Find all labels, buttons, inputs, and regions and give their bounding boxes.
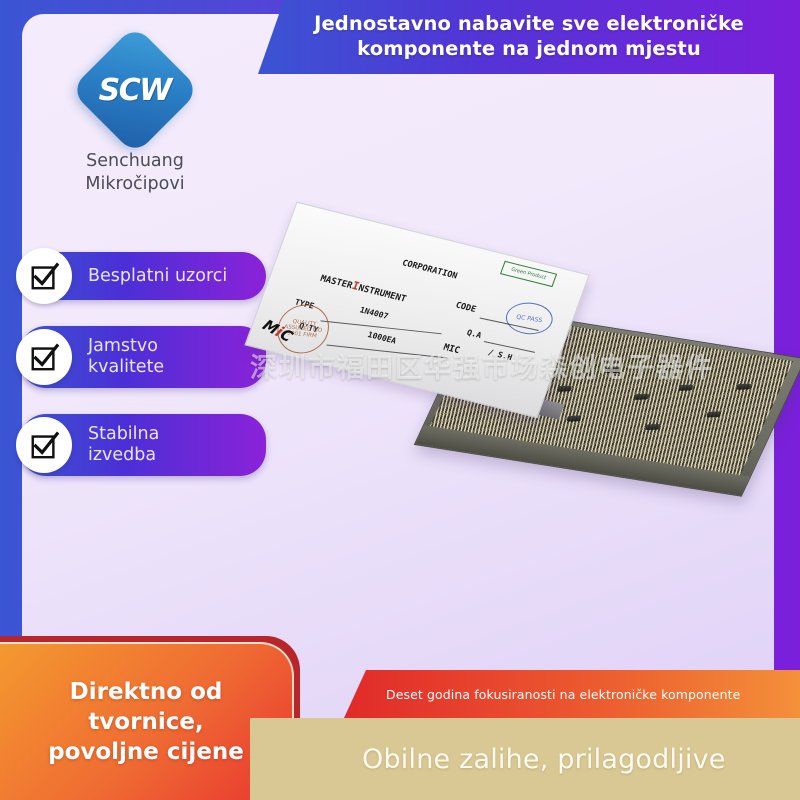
experience-tab-text: Deset godina fokusiranosti na elektronič… xyxy=(344,687,740,702)
label-master-instrument: MASTERINSTRUMENT xyxy=(319,271,409,305)
product-box: Green Product QC PASS CORPORATION MASTER… xyxy=(244,202,589,419)
brand-name-line-1: Senchuang xyxy=(40,150,230,173)
checkbox-checked-icon xyxy=(16,329,72,385)
stock-strip: Obilne zalihe, prilagodljive xyxy=(250,718,800,800)
header-line-1: Jednostavno nabavite sve elektroničke xyxy=(314,12,744,35)
checkbox-checked-icon xyxy=(16,417,72,473)
product-photo: Green Product QC PASS CORPORATION MASTER… xyxy=(258,218,788,548)
label-sh: / S.H xyxy=(487,348,513,362)
label-type-value: 1N4007 xyxy=(358,305,389,320)
logo-wordmark: SCW xyxy=(99,73,171,108)
feature-badge-label: Stabilna izvedba xyxy=(88,424,169,465)
ribbon-line-1: Direktno od xyxy=(48,678,244,708)
header-banner: Jednostavno nabavite sve elektroničke ko… xyxy=(258,0,800,74)
promo-banner: Jednostavno nabavite sve elektroničke ko… xyxy=(0,0,800,800)
header-line-2: komponente na jednom mjestu xyxy=(357,37,701,60)
checkbox-checked-icon xyxy=(16,248,72,304)
label-qty-value: 1000EA xyxy=(366,330,397,345)
feature-badge-label: Jamstvo kvalitete xyxy=(88,336,174,377)
brand-name-line-2: Mikročipovi xyxy=(40,173,230,196)
label-master: MASTER xyxy=(319,274,354,291)
checkbox-checked-glyph xyxy=(29,342,59,372)
stock-strip-text: Obilne zalihe, prilagodljive xyxy=(250,744,726,775)
feature-badge-stable-performance[interactable]: Stabilna izvedba xyxy=(20,414,266,476)
feature-badge-label: Besplatni uzorci xyxy=(88,266,237,287)
green-product-tag: Green Product xyxy=(500,261,557,287)
ribbon-text: Direktno od tvornice, povoljne cijene xyxy=(38,678,254,768)
brand-logo-block: SCW Senchuang Mikročipovi xyxy=(40,44,230,179)
feature-badge-quality-guarantee[interactable]: Jamstvo kvalitete xyxy=(20,326,266,388)
scw-logo-icon: SCW xyxy=(70,25,200,155)
label-corporation: CORPORATION xyxy=(401,258,459,281)
experience-tab: Deset godina fokusiranosti na elektronič… xyxy=(344,670,800,718)
checkbox-checked-glyph xyxy=(29,430,59,460)
ribbon-line-3: povoljne cijene xyxy=(48,738,244,768)
ribbon-line-2: tvornice, xyxy=(48,708,244,738)
feature-badge-list: Besplatni uzorci Jamstvo kvalitete Stabi… xyxy=(20,252,266,502)
feature-badge-free-samples[interactable]: Besplatni uzorci xyxy=(20,252,266,300)
brand-name: Senchuang Mikročipovi xyxy=(40,150,230,196)
checkbox-checked-glyph xyxy=(29,261,59,291)
header-banner-text: Jednostavno nabavite sve elektroničke ko… xyxy=(288,12,770,62)
label-instrument: NSTRUMENT xyxy=(357,283,408,304)
label-mic: MIC xyxy=(442,343,461,356)
label-qa: Q.A xyxy=(466,328,483,340)
qc-pass-stamp: QC PASS xyxy=(502,300,556,337)
label-code: CODE xyxy=(454,301,477,315)
